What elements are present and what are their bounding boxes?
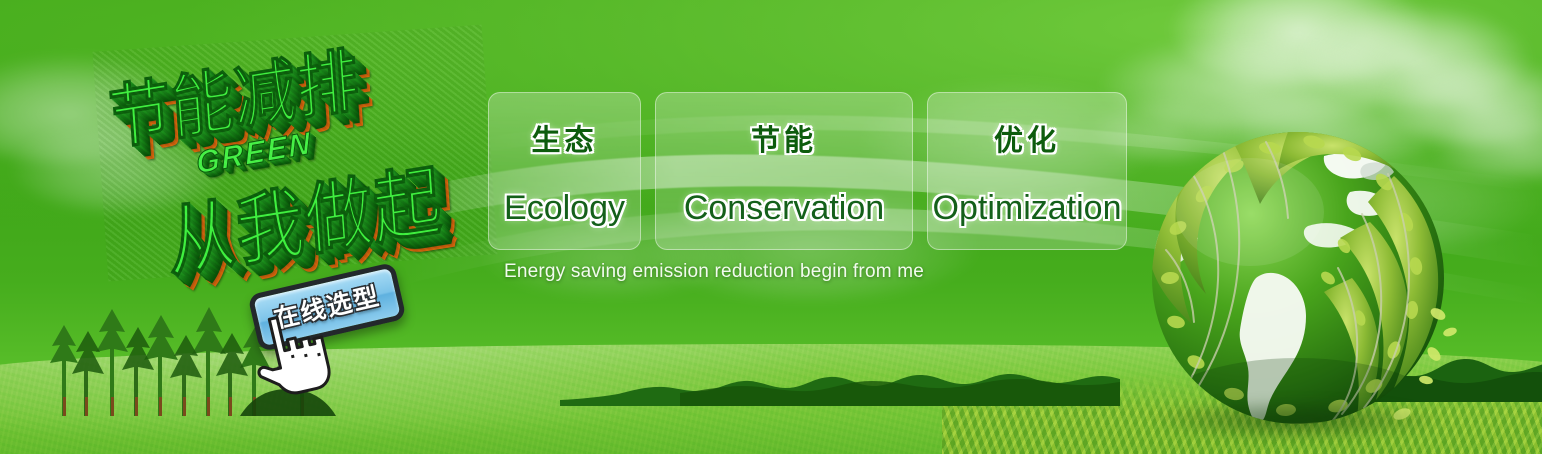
feature-card-list: 生态 Ecology 节能 Conservation 优化 Optimizati… (488, 92, 1127, 250)
feature-card-title-cn: 优化 (994, 117, 1060, 159)
tagline: Energy saving emission reduction begin f… (504, 261, 924, 283)
feature-card-title-en: Conservation (684, 189, 884, 228)
feature-card-conservation[interactable]: 节能 Conservation (655, 92, 913, 250)
feature-card-ecology[interactable]: 生态 Ecology (488, 92, 641, 250)
feature-card-title-en: Optimization (933, 189, 1122, 228)
feature-card-optimization[interactable]: 优化 Optimization (927, 92, 1127, 250)
leafy-earth-globe-icon (1138, 118, 1458, 438)
feature-card-title-en: Ecology (504, 189, 625, 228)
globe-shadow (1146, 398, 1446, 442)
distant-treeline-icon (560, 366, 1120, 406)
feature-card-title-cn: 节能 (751, 117, 817, 159)
feature-card-title-cn: 生态 (531, 117, 597, 159)
eco-promo-banner: 节能减排 GREEN 从我做起 在线选型 生态 Ecology 节能 Conse… (0, 0, 1542, 454)
globe-graphic (1138, 118, 1458, 438)
headline-3d-logo: 节能减排 GREEN 从我做起 (92, 25, 497, 282)
